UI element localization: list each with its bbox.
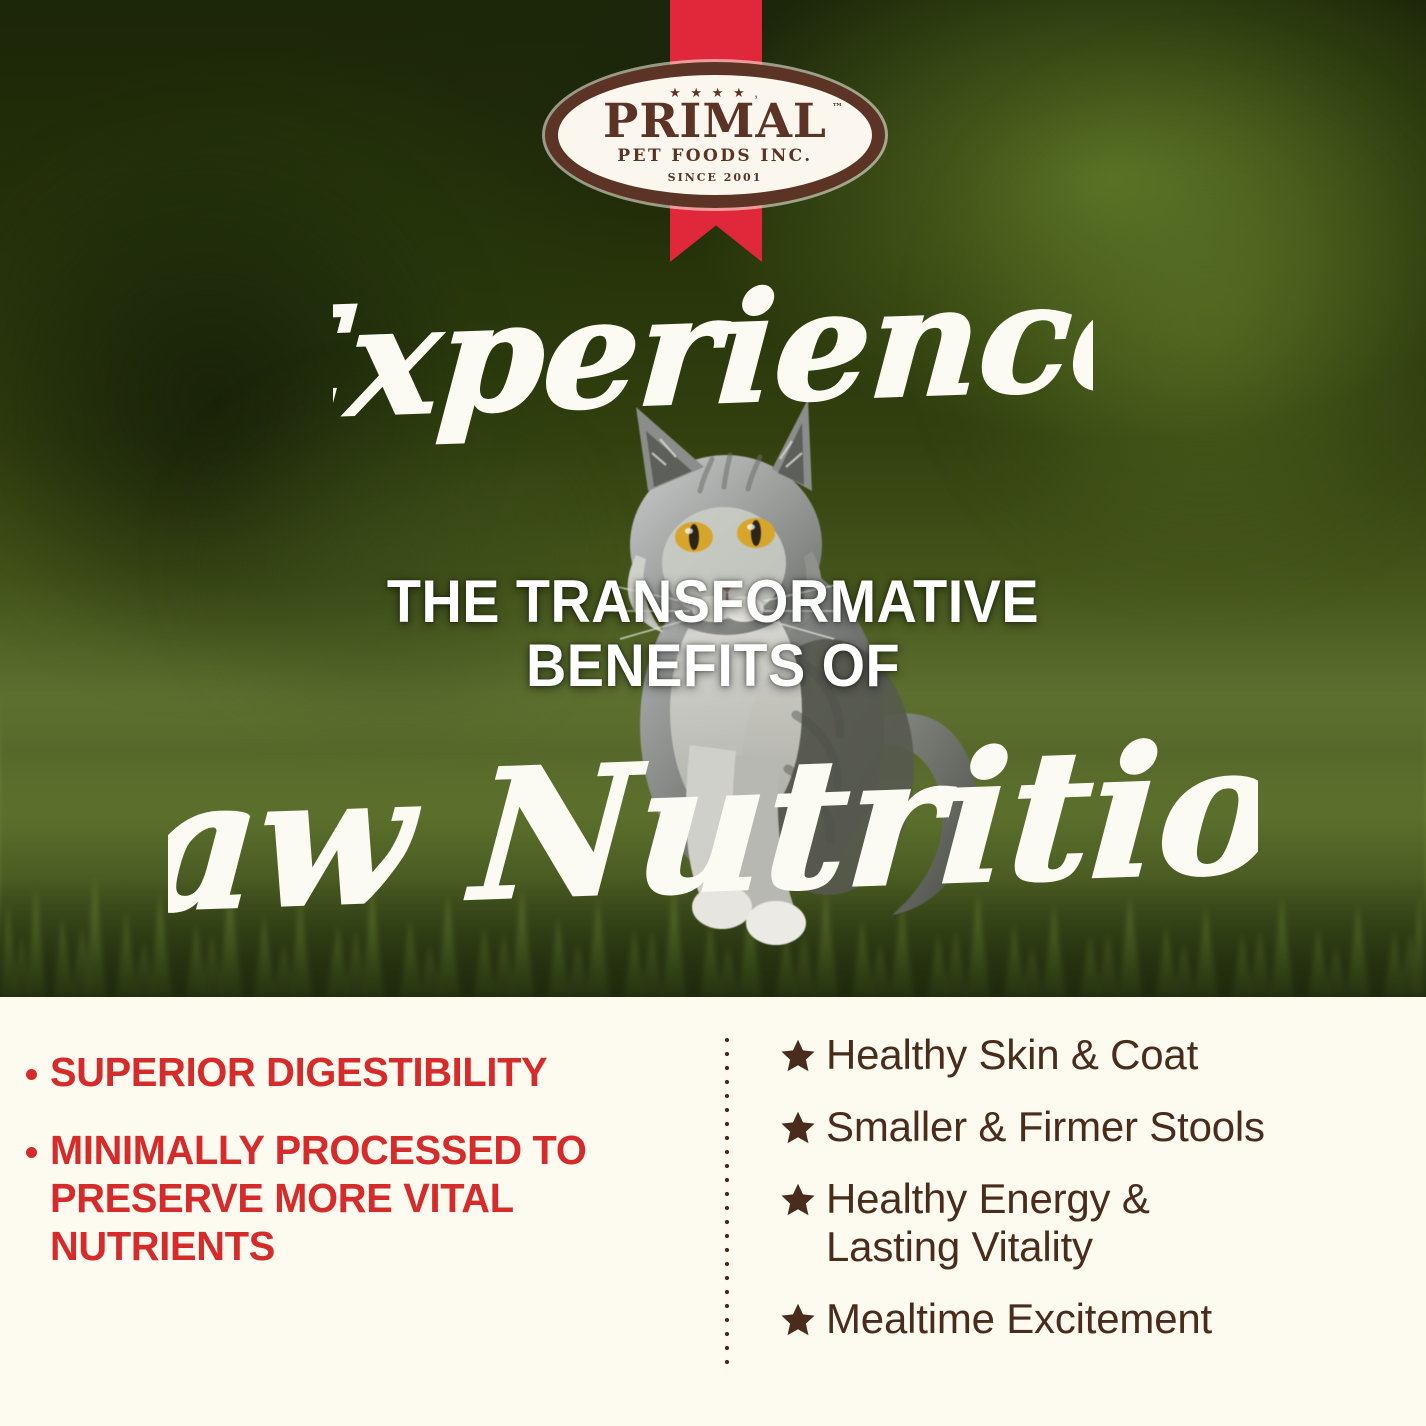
benefit-text: Healthy Skin & Coat [826, 1031, 1198, 1079]
dot-bullet-icon [26, 1069, 37, 1080]
logo-subtitle: PET FOODS INC. [617, 146, 812, 166]
star-icon [780, 1301, 816, 1337]
headline-block: THE TRANSFORMATIVE BENEFITS OF [50, 570, 1376, 697]
photo-bokeh-right [946, 60, 1426, 580]
benefits-panel: SUPERIOR DIGESTIBILITY MINIMALLY PROCESS… [0, 997, 1426, 1426]
logo-wordmark-text: PRIMAL [603, 94, 827, 149]
trademark-icon: ™ [832, 103, 844, 113]
benefit-text: Smaller & Firmer Stools [826, 1103, 1265, 1151]
benefits-left-column: SUPERIOR DIGESTIBILITY MINIMALLY PROCESS… [0, 997, 724, 1426]
benefit-text: MINIMALLY PROCESSED TO PRESERVE MORE VIT… [50, 1127, 673, 1271]
primal-logo: ★ ★ ★ ★ , PRIMAL ™ PET FOODS INC. SINCE … [545, 62, 885, 208]
benefit-text: Mealtime Excitement [826, 1295, 1212, 1343]
script-headline-bottom: Raw Nutrition [0, 718, 1426, 953]
benefits-right-column: Healthy Skin & Coat Smaller & Firmer Sto… [730, 997, 1426, 1426]
headline-line-1: THE TRANSFORMATIVE [50, 570, 1376, 634]
logo-since: SINCE 2001 [668, 171, 763, 184]
list-item: Mealtime Excitement [780, 1295, 1412, 1343]
svg-text:Raw Nutrition: Raw Nutrition [168, 718, 1258, 948]
hero-photo: ★ ★ ★ ★ , PRIMAL ™ PET FOODS INC. SINCE … [0, 0, 1426, 997]
benefit-text: Healthy Energy & Lasting Vitality [826, 1175, 1150, 1271]
list-item: Healthy Energy & Lasting Vitality [780, 1175, 1412, 1271]
headline-line-2: BENEFITS OF [50, 634, 1376, 698]
poster: ★ ★ ★ ★ , PRIMAL ™ PET FOODS INC. SINCE … [0, 0, 1426, 1426]
logo-wordmark: PRIMAL ™ [603, 100, 827, 145]
star-icon [780, 1037, 816, 1073]
star-icon [780, 1109, 816, 1145]
list-item: MINIMALLY PROCESSED TO PRESERVE MORE VIT… [26, 1127, 692, 1271]
list-item: Smaller & Firmer Stools [780, 1103, 1412, 1151]
list-item: Healthy Skin & Coat [780, 1031, 1412, 1079]
list-item: SUPERIOR DIGESTIBILITY [26, 1049, 692, 1097]
benefit-text: SUPERIOR DIGESTIBILITY [50, 1049, 547, 1097]
star-icon [780, 1181, 816, 1217]
dot-bullet-icon [26, 1147, 37, 1158]
